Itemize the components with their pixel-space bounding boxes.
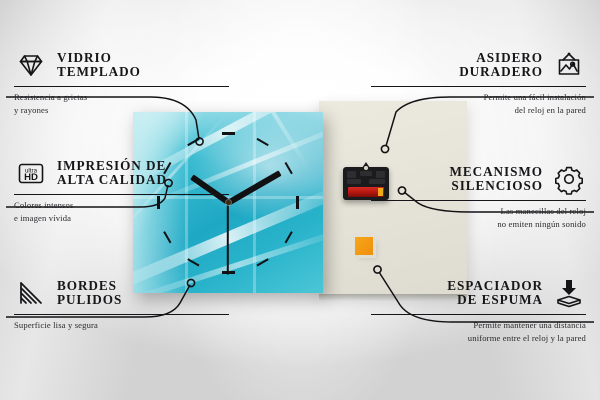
feature-description: Permite una fácil instalación del reloj … [371, 91, 586, 115]
gear-icon [552, 162, 586, 196]
clock-tick [222, 132, 235, 135]
feature-description-line2: e imagen vívida [14, 212, 229, 224]
mechanism-detail [347, 171, 356, 178]
clock-tick [284, 162, 293, 174]
ultra-hd-icon: ultra HD [14, 156, 48, 190]
hatched-edge-icon [14, 276, 48, 310]
clock-tick [296, 196, 299, 209]
feature-title-line2: SILENCIOSO [449, 179, 543, 193]
feature-title-line1: BORDES [57, 279, 122, 293]
feature-title-line2: DURADERO [459, 65, 543, 79]
infographic-canvas: VIDRIO TEMPLADO Resistencia a grietas y … [0, 0, 600, 400]
hanging-frame-icon [552, 48, 586, 82]
clock-tick [257, 138, 269, 147]
feature-description-line1: Resistencia a grietas [14, 91, 229, 103]
feature-divider [14, 194, 229, 195]
feature-header: BORDES PULIDOS [14, 276, 229, 310]
feature-title: IMPRESIÓN DE ALTA CALIDAD [57, 159, 167, 187]
feature-description-line2: no emiten ningún sonido [371, 218, 586, 230]
feature-header: ultra HD IMPRESIÓN DE ALTA CALIDAD [14, 156, 229, 190]
feature-asidero-duradero: ASIDERO DURADERO Permite una fácil insta… [371, 48, 586, 116]
feature-header: ASIDERO DURADERO [371, 48, 586, 82]
feature-title-line1: VIDRIO [57, 51, 141, 65]
feature-title: ESPACIADOR DE ESPUMA [447, 279, 543, 307]
diamond-icon [14, 48, 48, 82]
feature-description-line1: Las manecillas del reloj [371, 205, 586, 217]
feature-espaciador-de-espuma: ESPACIADOR DE ESPUMA Permite mantener un… [371, 276, 586, 344]
feature-title-line1: ASIDERO [459, 51, 543, 65]
feature-title: MECANISMO SILENCIOSO [449, 165, 543, 193]
mechanism-detail [347, 179, 361, 184]
feature-title-line1: IMPRESIÓN DE [57, 159, 167, 173]
foam-spacer [355, 237, 373, 255]
feature-description: Colores intensos e imagen vívida [14, 199, 229, 223]
feature-description: Resistencia a grietas y rayones [14, 91, 229, 115]
arrow-down-pad-icon [552, 276, 586, 310]
feature-description-line1: Permite una fácil instalación [371, 91, 586, 103]
feature-description-line1: Permite mantener una distancia [371, 319, 586, 331]
feature-title: ASIDERO DURADERO [459, 51, 543, 79]
feature-title-line1: ESPACIADOR [447, 279, 543, 293]
feature-title-line2: TEMPLADO [57, 65, 141, 79]
feature-impresion-alta-calidad: ultra HD IMPRESIÓN DE ALTA CALIDAD Color… [14, 156, 229, 224]
feature-description: Permite mantener una distancia uniforme … [371, 319, 586, 343]
clock-tick [284, 231, 293, 243]
feature-header: VIDRIO TEMPLADO [14, 48, 229, 82]
feature-header: ESPACIADOR DE ESPUMA [371, 276, 586, 310]
feature-divider [371, 314, 586, 315]
feature-divider [371, 86, 586, 87]
feature-divider [14, 314, 229, 315]
feature-title-line2: ALTA CALIDAD [57, 173, 167, 187]
feature-title-line2: DE ESPUMA [447, 293, 543, 307]
feature-title: BORDES PULIDOS [57, 279, 122, 307]
ultra-hd-icon-bottom-text: HD [24, 172, 38, 183]
feature-description-line1: Superficie lisa y segura [14, 319, 229, 331]
feature-bordes-pulidos: BORDES PULIDOS Superficie lisa y segura [14, 276, 229, 332]
feature-description-line1: Colores intensos [14, 199, 229, 211]
feature-divider [371, 200, 586, 201]
feature-vidrio-templado: VIDRIO TEMPLADO Resistencia a grietas y … [14, 48, 229, 116]
feature-description: Las manecillas del reloj no emiten ningú… [371, 205, 586, 229]
feature-title-line2: PULIDOS [57, 293, 122, 307]
feature-description-line2: uniforme entre el reloj y la pared [371, 332, 586, 344]
feature-mecanismo-silencioso: MECANISMO SILENCIOSO Las manecillas del … [371, 162, 586, 230]
feature-header: MECANISMO SILENCIOSO [371, 162, 586, 196]
feature-description-line2: y rayones [14, 104, 229, 116]
feature-divider [14, 86, 229, 87]
feature-description: Superficie lisa y segura [14, 319, 229, 331]
mechanism-hanger-hole [364, 166, 368, 170]
feature-title: VIDRIO TEMPLADO [57, 51, 141, 79]
feature-title-line1: MECANISMO [449, 165, 543, 179]
feature-description-line2: del reloj en la pared [371, 104, 586, 116]
